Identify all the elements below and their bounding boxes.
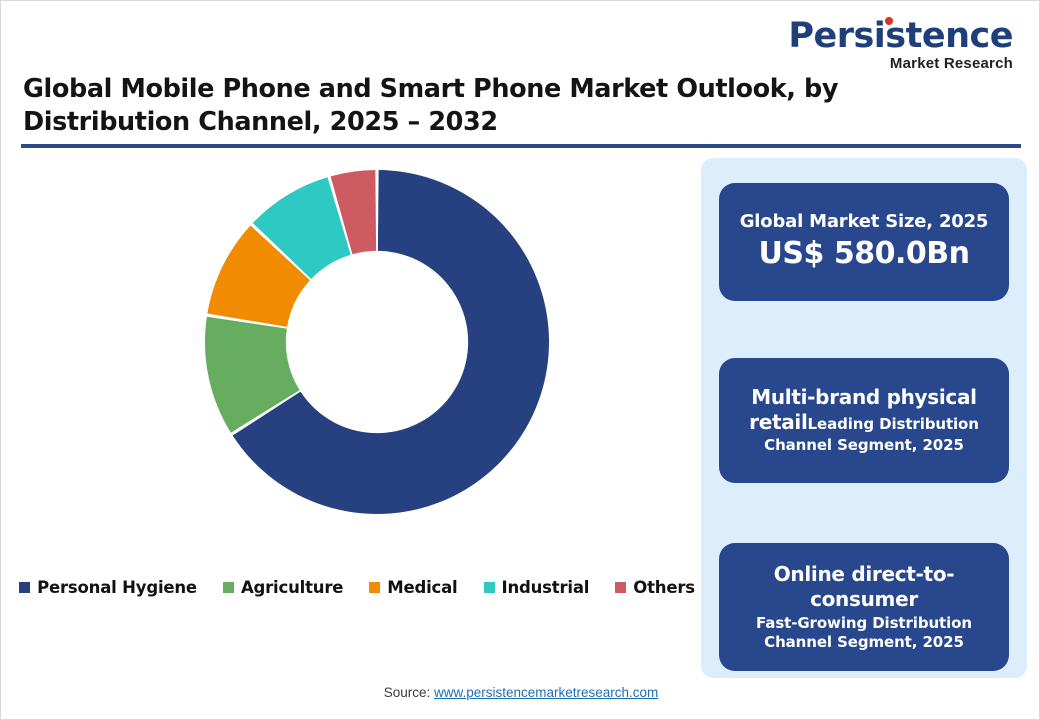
stats-panel: Global Market Size, 2025 US$ 580.0Bn Mul… (701, 158, 1027, 678)
fastest-segment-text: Online direct-to-consumerFast-Growing Di… (735, 562, 993, 653)
chart-legend: Personal HygieneAgricultureMedicalIndust… (21, 578, 693, 597)
donut-slice-group (205, 170, 549, 514)
market-size-caption: Global Market Size, 2025 (735, 211, 993, 233)
legend-swatch-icon (369, 582, 380, 593)
legend-item[interactable]: Personal Hygiene (19, 578, 197, 597)
legend-swatch-icon (615, 582, 626, 593)
source-line: Source: www.persistencemarketresearch.co… (1, 685, 1040, 700)
donut-chart-svg (201, 166, 553, 518)
market-size-value: US$ 580.0Bn (735, 235, 993, 273)
logo-wordmark: Persistence (788, 19, 1013, 54)
chart-area: Personal HygieneAgricultureMedicalIndust… (21, 156, 693, 626)
legend-item[interactable]: Others (615, 578, 695, 597)
donut-chart (201, 166, 553, 518)
legend-item-label: Others (633, 578, 695, 597)
legend-item[interactable]: Industrial (484, 578, 590, 597)
legend-item-label: Personal Hygiene (37, 578, 197, 597)
legend-item[interactable]: Agriculture (223, 578, 343, 597)
legend-item-label: Medical (387, 578, 457, 597)
legend-item[interactable]: Medical (369, 578, 457, 597)
infographic-page: Persistence Market Research Global Mobil… (0, 0, 1040, 720)
legend-swatch-icon (223, 582, 234, 593)
fastest-segment-name: Online direct-to-consumer (735, 562, 993, 613)
legend-item-label: Industrial (502, 578, 590, 597)
legend-swatch-icon (484, 582, 495, 593)
legend-swatch-icon (19, 582, 30, 593)
source-prefix: Source: (384, 685, 434, 700)
logo-tagline: Market Research (783, 56, 1013, 71)
stat-card-leading-segment: Multi-brand physical retailLeading Distr… (719, 358, 1009, 483)
page-title: Global Mobile Phone and Smart Phone Mark… (23, 73, 983, 138)
stat-card-market-size: Global Market Size, 2025 US$ 580.0Bn (719, 183, 1009, 301)
legend-item-label: Agriculture (241, 578, 343, 597)
logo-wordmark-text: Persistence (788, 16, 1013, 56)
fastest-segment-description: Fast-Growing Distribution Channel Segmen… (735, 614, 993, 652)
source-link[interactable]: www.persistencemarketresearch.com (434, 685, 658, 700)
stat-card-fastest-growing-segment: Online direct-to-consumerFast-Growing Di… (719, 543, 1009, 671)
brand-logo: Persistence Market Research (783, 19, 1013, 71)
leading-segment-text: Multi-brand physical retailLeading Distr… (735, 385, 993, 457)
title-divider (21, 144, 1021, 148)
